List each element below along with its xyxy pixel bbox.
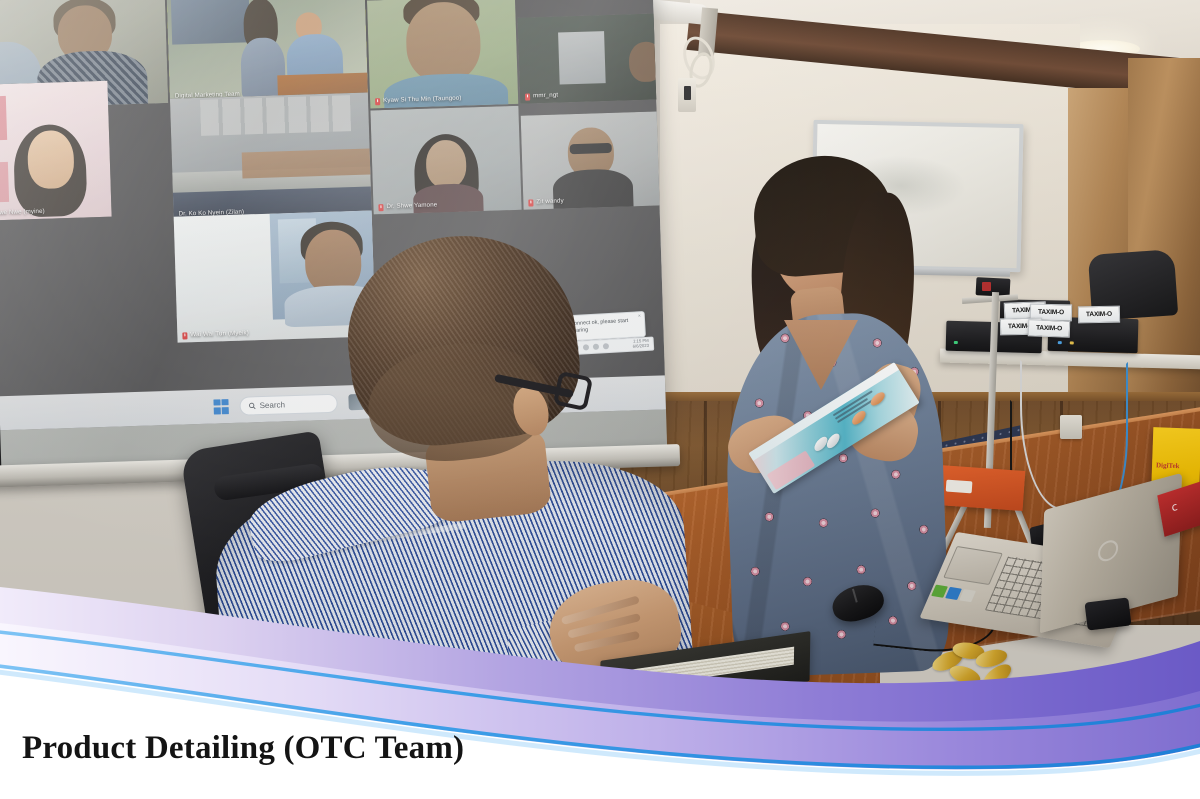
tile-shade — [518, 13, 661, 103]
mouse-button-split — [852, 589, 857, 603]
red-item-emblem: ⅽ — [1171, 500, 1179, 515]
page-title: Product Detailing (OTC Team) — [22, 730, 464, 767]
mic-muted-icon — [182, 332, 187, 339]
status-led — [1058, 341, 1062, 344]
laptop-trackpad — [943, 546, 1003, 585]
tile-shade — [370, 106, 521, 215]
brochure-product-image — [824, 431, 842, 450]
eyeglasses-lens-icon — [553, 371, 593, 411]
tile-shade — [367, 0, 518, 108]
usb-webcam — [1084, 597, 1131, 630]
tile-shade — [521, 111, 664, 209]
participant-name: Nwe Nwe (myine) — [0, 209, 45, 217]
wall-mounted-unit — [647, 0, 709, 25]
laptop-brand-logo — [1098, 538, 1119, 564]
stand-indicator — [982, 282, 991, 291]
participant-name: Dr. Shwe Yamone — [386, 203, 437, 211]
tile-shade — [167, 0, 368, 103]
video-tile[interactable]: mmr_ngt — [518, 13, 661, 103]
video-tile[interactable]: Dr. Shwe Yamone — [370, 106, 521, 215]
mic-muted-icon — [375, 98, 380, 105]
gold-ribbon-bow — [930, 636, 1023, 695]
tile-shade — [0, 81, 112, 221]
participant-name: mmr_ngt — [533, 93, 558, 100]
mic-muted-icon — [525, 93, 530, 100]
seated-attendee — [218, 236, 688, 700]
product-box-taxim: TAXIM-O — [1078, 306, 1120, 324]
video-tile[interactable]: Dr. Ko Ko Nyein (Zilan) — [170, 93, 372, 221]
wall-junction-box — [678, 78, 696, 112]
screenshot-root: (Speaker) Digital Marketing Team — [0, 0, 1200, 799]
video-tile-active[interactable]: Digital Marketing Team — [167, 0, 368, 103]
laptop-hp — [938, 492, 1190, 642]
brochure-product-image — [868, 390, 887, 408]
video-tile[interactable]: Kyaw Si Thu Min (Taungoo) — [367, 0, 518, 108]
tile-shade — [170, 93, 372, 221]
laptop-stickers — [931, 585, 976, 603]
mic-muted-icon — [378, 204, 383, 211]
participant-name: Zit wandy — [536, 199, 564, 206]
mic-muted-icon — [528, 199, 533, 206]
video-tile[interactable]: Zit wandy — [521, 111, 664, 209]
photograph: (Speaker) Digital Marketing Team — [0, 0, 1200, 700]
yellow-box-label: DigiTek — [1156, 461, 1180, 470]
status-led — [1070, 341, 1074, 344]
junction-box-port — [684, 86, 691, 100]
product-box-taxim: TAXIM-O — [1028, 319, 1071, 337]
video-tile[interactable]: Nwe Nwe (myine) — [0, 81, 112, 221]
participant-label: Zit wandy — [528, 198, 564, 206]
participant-label: mmr_ngt — [525, 93, 558, 101]
